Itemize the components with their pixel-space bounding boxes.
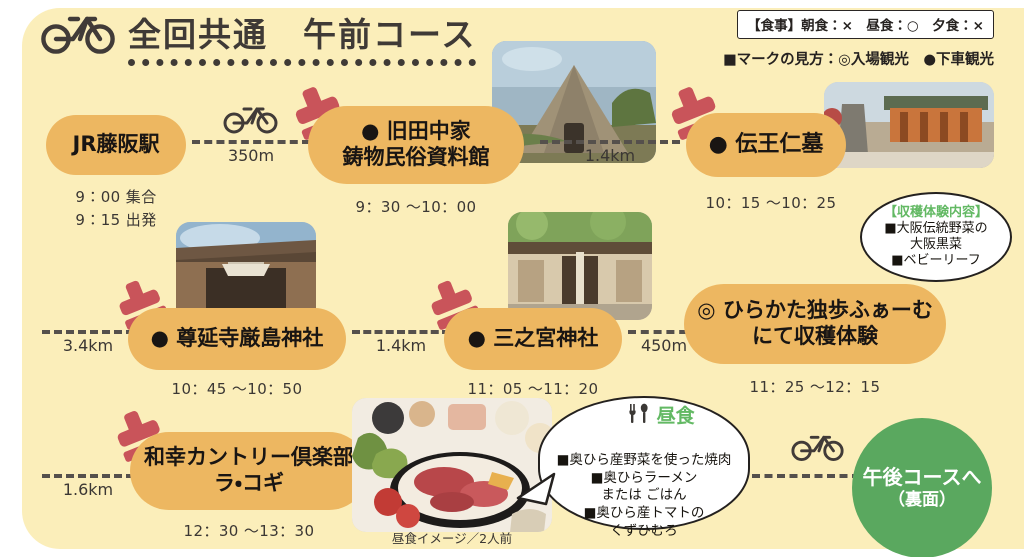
legend-meal: 【食事】朝食：× 昼食：○ 夕食：×	[737, 10, 994, 39]
stop-label-3: ● 尊延寺厳島神社	[151, 326, 324, 352]
stop-pill-4[interactable]: ● 三之宮神社	[444, 308, 622, 370]
stop-pill-3[interactable]: ● 尊延寺厳島神社	[128, 308, 346, 370]
stop-pill-6[interactable]: 和幸カントリー倶楽部 ラ・コギ	[130, 432, 368, 510]
leg-distance-5: 1.6km	[42, 480, 134, 499]
leg-distance-2: 3.4km	[42, 336, 134, 355]
harvest-note-heading: 【収穫体験内容】	[884, 205, 988, 221]
stop-time-3: 10：45 〜10：50	[128, 378, 346, 399]
leg-distance-0: 350m	[192, 146, 310, 165]
harvest-note-line1: ■大阪伝統野菜の	[884, 221, 987, 237]
stop-pill-0[interactable]: JR藤阪駅	[46, 115, 186, 175]
lunch-photo-caption: 昼食イメージ／2人前	[352, 528, 552, 547]
lunch-note-line3: または ごはん	[601, 487, 686, 505]
lunch-note-heading: 昼食	[657, 404, 695, 429]
leg-distance-3: 1.4km	[352, 336, 450, 355]
stop-label-6-line2: ラ・コギ	[214, 471, 284, 497]
stop-time-0: 9：00 集合 9：15 出発	[46, 186, 186, 231]
stop-pill-1[interactable]: ● 旧田中家 鋳物民俗資料館	[308, 106, 524, 184]
harvest-note-bubble: 【収穫体験内容】 ■大阪伝統野菜の 大阪黒菜 ■ベビーリーフ	[860, 192, 1012, 282]
stop-label-1-line2: 鋳物民俗資料館	[343, 145, 490, 171]
stop-label-6: 和幸カントリー倶楽部	[144, 445, 354, 471]
lunch-note-line5: くずひむろ	[610, 523, 678, 541]
bicycle-icon	[222, 102, 280, 138]
next-course-line2: （裏面）	[888, 490, 956, 511]
fork-spoon-icon	[593, 385, 649, 449]
shrine-hall-photo	[508, 212, 652, 320]
lunch-bubble-tail	[516, 470, 556, 516]
next-course-button[interactable]: 午後コースへ （裏面）	[852, 418, 992, 557]
poster-header: 全回共通 午前コース	[40, 8, 476, 66]
stop-pill-2[interactable]: ● 伝王仁墓	[686, 113, 846, 177]
harvest-note-line3: ■ベビーリーフ	[891, 253, 981, 269]
lunch-note-bubble: 昼食 ■奥ひら産野菜を使った焼肉 ■奥ひらラーメン または ごはん ■奥ひら産ト…	[538, 396, 750, 530]
legend: 【食事】朝食：× 昼食：○ 夕食：× ■マークの見方：◎入場観光 ●下車観光	[723, 10, 994, 69]
stop-label-2: ● 伝王仁墓	[709, 132, 824, 159]
harvest-note-line2: 大阪黒菜	[910, 237, 962, 253]
legend-mark: ■マークの見方：◎入場観光 ●下車観光	[723, 48, 994, 69]
lunch-note-line4: ■奥ひら産トマトの	[584, 505, 705, 523]
stop-time-5: 11：25 〜12：15	[684, 376, 946, 397]
lunch-note-line2: ■奥ひらラーメン	[591, 470, 698, 488]
stop-label-5-line2: にて収穫体験	[752, 324, 878, 350]
stop-label-0: JR藤阪駅	[73, 132, 160, 158]
stop-label-1: ● 旧田中家	[361, 119, 471, 145]
next-course-line1: 午後コースへ	[863, 465, 982, 490]
bicycle-icon	[40, 8, 118, 58]
leg-distance-1: 1.4km	[540, 146, 680, 165]
ouninbo-monument-photo	[824, 82, 994, 168]
lunch-note-line1: ■奥ひら産野菜を使った焼肉	[557, 452, 732, 470]
stop-pill-5[interactable]: ◎ ひらかた独歩ふぁーむ にて収穫体験	[684, 284, 946, 364]
stop-label-5: ◎ ひらかた独歩ふぁーむ	[697, 298, 933, 324]
stop-time-1: 9：30 〜10：00	[308, 196, 524, 217]
page-title: 全回共通 午前コース	[128, 16, 476, 66]
course-map-poster: 全回共通 午前コース 【食事】朝食：× 昼食：○ 夕食：× ■マークの見方：◎入…	[0, 0, 1024, 557]
stop-time-2: 10：15 〜10：25	[686, 192, 856, 213]
bicycle-icon	[790, 430, 846, 466]
stop-time-6: 12：30 〜13：30	[130, 520, 368, 541]
stop-label-4: ● 三之宮神社	[468, 326, 599, 352]
